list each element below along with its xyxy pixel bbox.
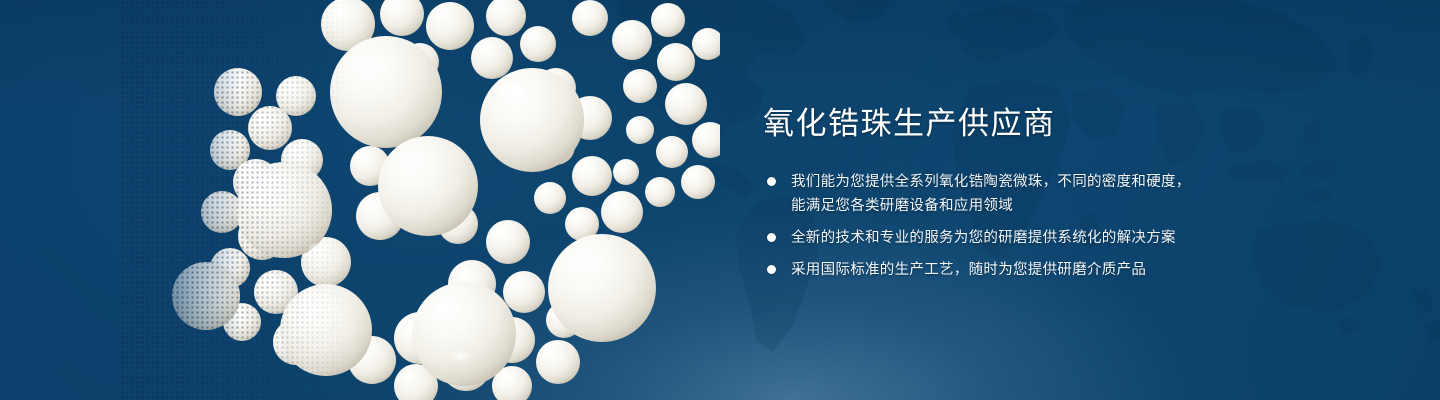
bullet-dot-icon xyxy=(767,177,776,186)
bullet-item-1: 我们能为您提供全系列氧化锆陶瓷微珠，不同的密度和硬度， 能满足您各类研磨设备和应… xyxy=(763,170,1383,218)
bullet-dot-icon xyxy=(767,233,776,242)
bullet-text-3: 采用国际标准的生产工艺，随时为您提供研磨介质产品 xyxy=(791,258,1383,282)
bullet-line-1b: 能满足您各类研磨设备和应用领域 xyxy=(791,194,1383,218)
bullet-text-2: 全新的技术和专业的服务为您的研磨提供系统化的解决方案 xyxy=(791,226,1383,250)
bullet-line-1a: 我们能为您提供全系列氧化锆陶瓷微珠，不同的密度和硬度， xyxy=(791,174,1191,190)
banner-headline: 氧化锆珠生产供应商 xyxy=(763,104,1383,144)
banner-bullet-list: 我们能为您提供全系列氧化锆陶瓷微珠，不同的密度和硬度， 能满足您各类研磨设备和应… xyxy=(763,170,1383,282)
banner-content: 氧化锆珠生产供应商 我们能为您提供全系列氧化锆陶瓷微珠，不同的密度和硬度， 能满… xyxy=(763,104,1383,282)
bullet-text-1: 我们能为您提供全系列氧化锆陶瓷微珠，不同的密度和硬度， 能满足您各类研磨设备和应… xyxy=(791,170,1383,218)
bullet-item-2: 全新的技术和专业的服务为您的研磨提供系统化的解决方案 xyxy=(763,226,1383,250)
bullet-dot-icon xyxy=(767,265,776,274)
bullet-item-3: 采用国际标准的生产工艺，随时为您提供研磨介质产品 xyxy=(763,258,1383,282)
hero-banner: 氧化锆珠生产供应商 我们能为您提供全系列氧化锆陶瓷微珠，不同的密度和硬度， 能满… xyxy=(0,0,1440,400)
